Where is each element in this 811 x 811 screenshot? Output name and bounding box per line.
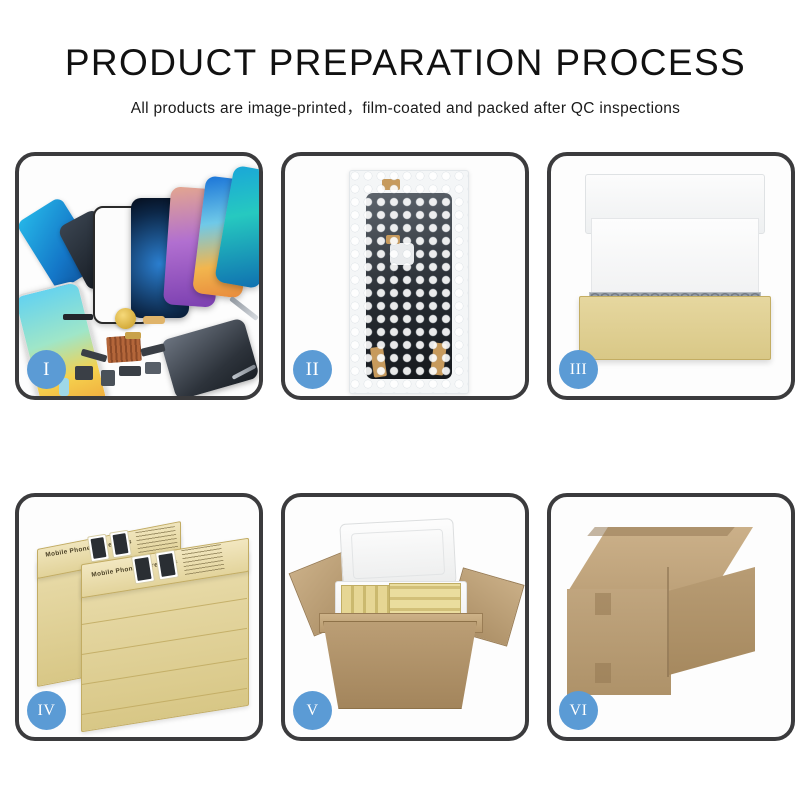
step-panel-3: III	[547, 152, 795, 400]
antenna-part	[125, 332, 141, 339]
bubble-wrap-package	[349, 170, 469, 394]
page-subtitle: All products are image-printed，film-coat…	[0, 96, 811, 118]
gold-component-icon	[115, 308, 136, 329]
bubble-texture	[350, 171, 468, 393]
foam-box-lid	[339, 518, 456, 590]
step-badge-6: VI	[559, 691, 598, 730]
connector-part	[75, 366, 93, 380]
step-panel-5: V	[281, 493, 529, 741]
page-title: PRODUCT PREPARATION PROCESS	[0, 44, 811, 83]
product-preparation-infographic: PRODUCT PREPARATION PROCESS All products…	[0, 0, 811, 811]
carton-tape-seam	[587, 527, 735, 536]
button-part	[145, 362, 161, 374]
step-panel-4: Mobile Phone Spare Parts Mobile Phone Sp…	[15, 493, 263, 741]
step-badge-3: III	[559, 350, 598, 389]
bracket-part	[119, 366, 141, 376]
gold-inner-box	[579, 296, 771, 360]
carton-front-face	[567, 589, 671, 695]
step-panel-1: I	[15, 152, 263, 400]
process-steps-grid: I II	[15, 152, 796, 741]
step-badge-1: I	[27, 350, 66, 389]
box-art-phone-3	[131, 554, 155, 585]
gold-flex-part	[143, 316, 165, 324]
step-panel-6: VI	[547, 493, 795, 741]
box-art-phone-4	[155, 550, 179, 581]
box-art-phone-2	[109, 530, 132, 559]
speaker-part	[63, 314, 93, 320]
carton-tape-patch-top	[595, 593, 611, 615]
foam-sheet	[591, 218, 759, 302]
step-badge-4: IV	[27, 691, 66, 730]
camera-part	[101, 370, 115, 386]
screw-grid-icon	[106, 335, 142, 363]
tweezers-icon	[229, 296, 259, 321]
box-stack: Mobile Phone Spare Parts Mobile Phone Sp…	[37, 519, 249, 723]
step-panel-2: II	[281, 152, 529, 400]
box-art-phone-1	[87, 534, 110, 563]
carton-body	[323, 621, 477, 709]
ribbon-part	[140, 343, 165, 357]
step-badge-5: V	[293, 691, 332, 730]
carton-tape-patch-bottom	[595, 663, 611, 683]
step-badge-2: II	[293, 350, 332, 389]
header: PRODUCT PREPARATION PROCESS All products…	[0, 0, 811, 118]
carton-corner-edge	[667, 567, 669, 677]
phone-back-housing	[160, 317, 259, 396]
